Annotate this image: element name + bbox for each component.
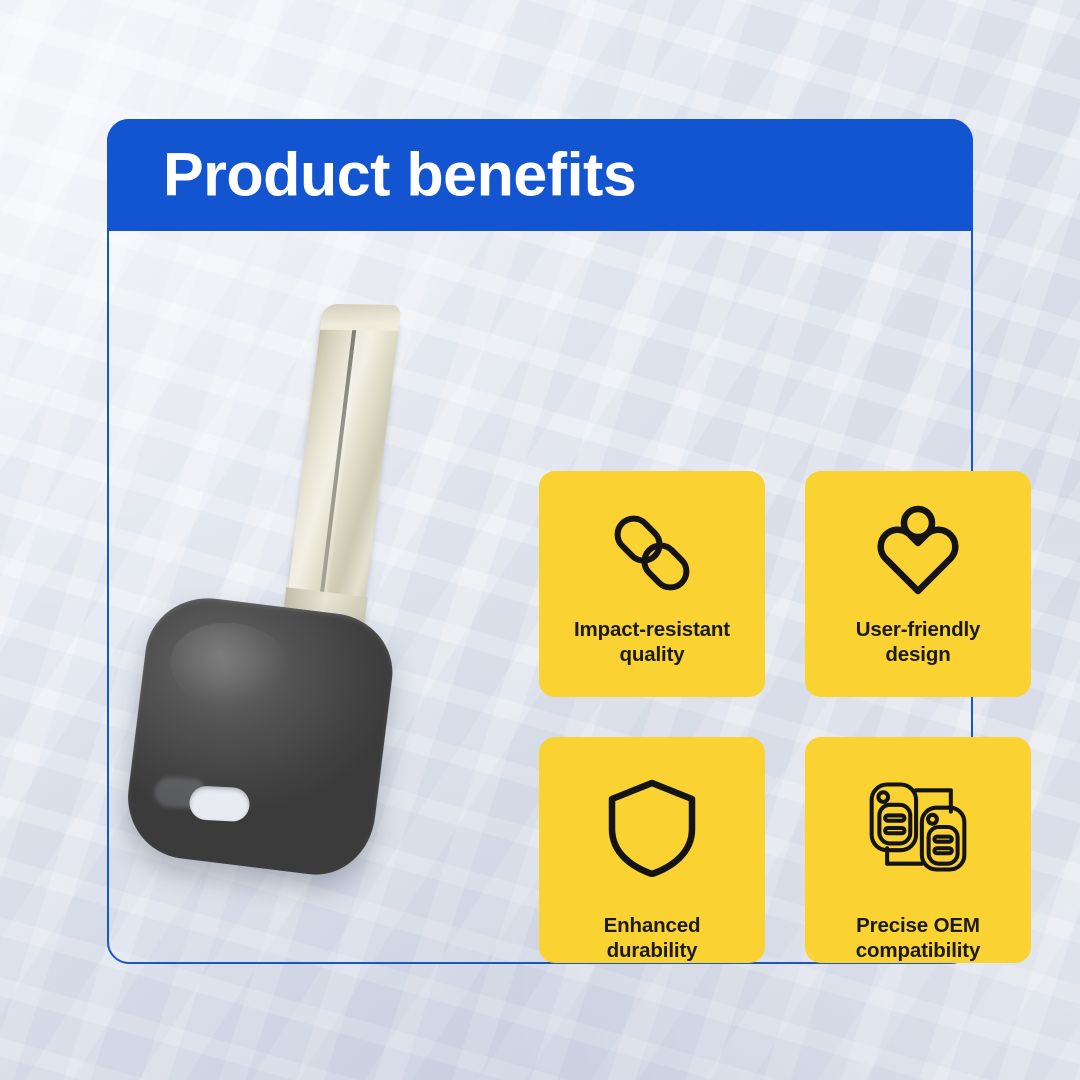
benefit-label-line-1: Impact-resistant — [574, 618, 730, 641]
benefit-label-line-2: design — [885, 643, 950, 666]
benefits-grid: Impact-resistant quality User-friendly d… — [539, 471, 1031, 963]
two-key-fobs-connected-icon — [862, 771, 974, 883]
chain-link-icon — [596, 497, 708, 609]
benefit-card-enhanced-durability[interactable]: Enhanced durability — [539, 737, 765, 963]
benefit-card-label: Enhanced durability — [548, 913, 756, 963]
benefit-label-line-2: durability — [607, 939, 698, 962]
benefit-label-line-2: compatibility — [856, 939, 980, 962]
benefit-label-line-2: quality — [619, 643, 684, 666]
benefit-card-precise-oem-compatibility[interactable]: Precise OEM compatibility — [805, 737, 1031, 963]
benefit-card-label: Impact-resistant quality — [548, 617, 756, 667]
benefit-card-impact-resistant-quality[interactable]: Impact-resistant quality — [539, 471, 765, 697]
infographic-stage: Product benefits Impact-resistant qualit… — [0, 0, 1080, 1080]
benefit-card-label: User-friendly design — [814, 617, 1022, 667]
page-title: Product benefits — [163, 145, 636, 206]
benefits-panel: Product benefits Impact-resistant qualit… — [107, 119, 973, 964]
panel-header: Product benefits — [107, 119, 973, 231]
benefit-label-line-1: Precise OEM — [856, 914, 980, 937]
benefit-card-user-friendly-design[interactable]: User-friendly design — [805, 471, 1031, 697]
benefit-label-line-1: Enhanced — [604, 914, 701, 937]
benefit-card-label: Precise OEM compatibility — [814, 913, 1022, 963]
benefit-label-line-1: User-friendly — [856, 618, 981, 641]
shield-icon — [596, 771, 708, 883]
person-heart-icon — [862, 497, 974, 609]
